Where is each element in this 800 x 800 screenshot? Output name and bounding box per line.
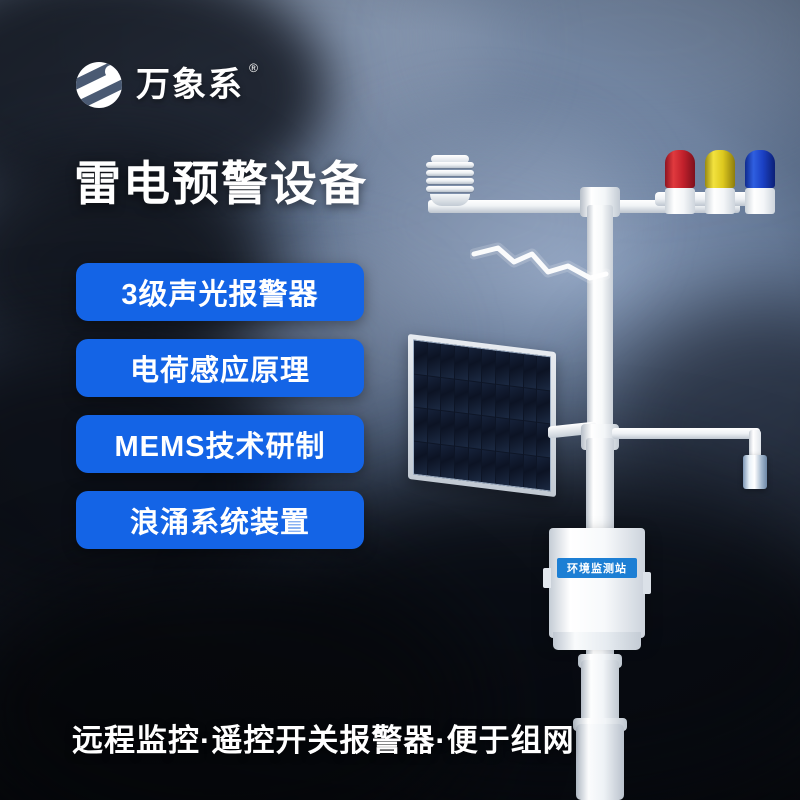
swirl-circle-logo-icon [76,62,122,108]
brand-logo: 万象系 ® [76,62,244,108]
brand-name: 万象系 ® [136,68,244,102]
page-title: 雷电预警设备 [74,160,368,207]
registered-trademark-mark: ® [249,62,260,74]
feature-badge-list: 3级声光报警器 电荷感应原理 MEMS技术研制 浪涌系统装置 [76,263,364,549]
feature-badge-2: 电荷感应原理 [76,339,364,397]
footer-tagline: 远程监控·遥控开关报警器·便于组网 [72,715,575,760]
feature-badge-3: MEMS技术研制 [76,415,364,473]
poster-canvas: 环境监测站 万象系 ® 雷电预警设备 3级声光报警器 电荷感应原理 MEMS技术… [0,0,800,800]
brand-name-text: 万象系 [136,66,244,104]
feature-badge-1: 3级声光报警器 [76,263,364,321]
feature-badge-4: 浪涌系统装置 [76,491,364,549]
